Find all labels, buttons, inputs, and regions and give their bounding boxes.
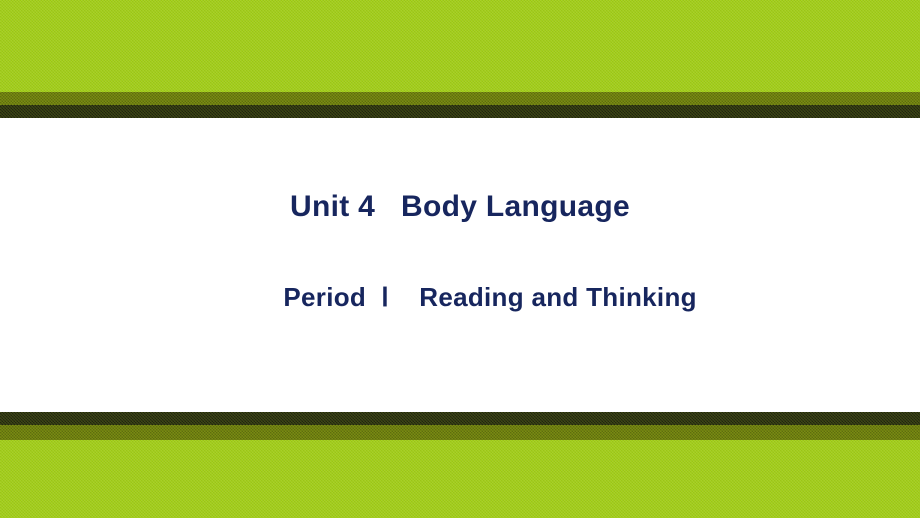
subtitle-lesson: Reading and Thinking xyxy=(419,282,697,312)
bottom-banner-bright-band xyxy=(0,440,920,518)
slide-content-area: Unit 4 Body Language Period Ⅰ Reading an… xyxy=(0,118,920,412)
bottom-banner-olive-band xyxy=(0,425,920,440)
top-banner-olive-band xyxy=(0,92,920,105)
bottom-green-banner xyxy=(0,412,920,518)
top-green-banner xyxy=(0,0,920,118)
bottom-banner-dark-band xyxy=(0,412,920,425)
presentation-slide: Unit 4 Body Language Period Ⅰ Reading an… xyxy=(0,0,920,518)
top-banner-dark-band xyxy=(0,105,920,118)
top-banner-bright-band xyxy=(0,0,920,92)
subtitle-period-number: Ⅰ xyxy=(381,283,389,312)
subtitle-period-label: Period xyxy=(283,282,366,312)
slide-subtitle: Period Ⅰ Reading and Thinking xyxy=(0,252,920,343)
slide-title: Unit 4 Body Language xyxy=(0,190,920,224)
